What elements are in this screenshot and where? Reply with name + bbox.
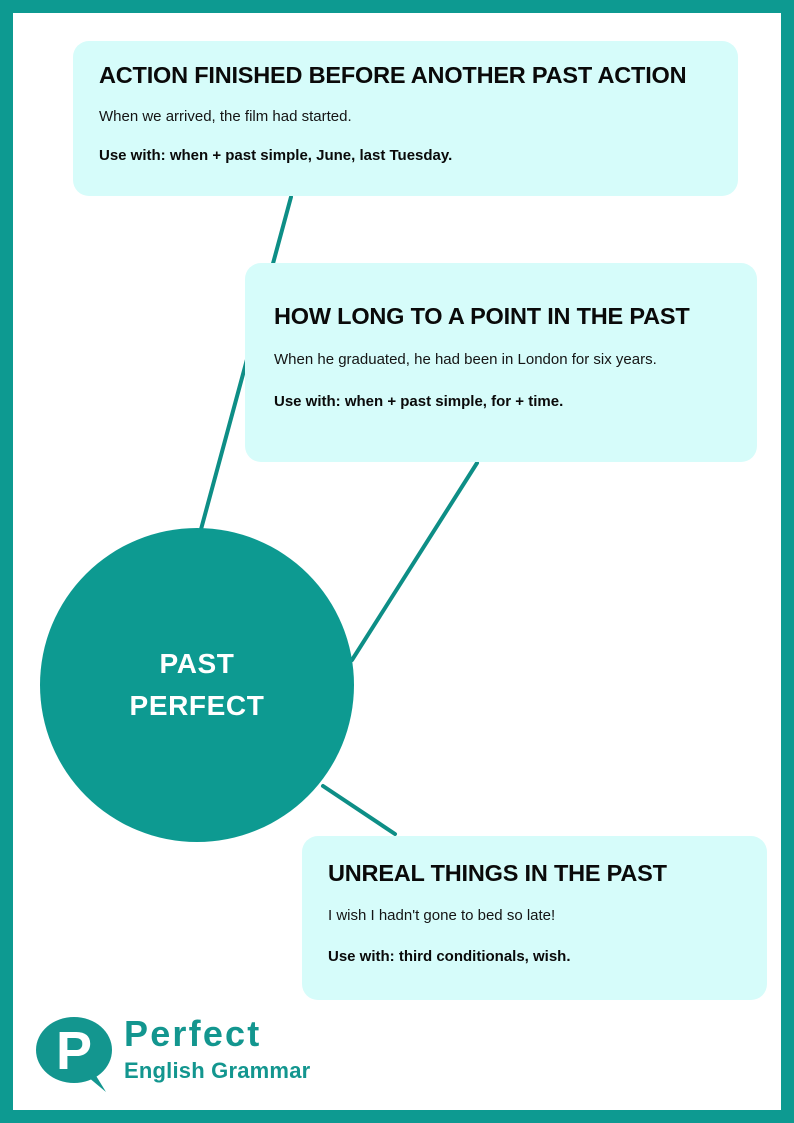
hub-circle-past-perfect: PAST PERFECT	[40, 528, 354, 842]
concept-card-unreal-things: UNREAL THINGS IN THE PAST I wish I hadn'…	[302, 836, 767, 1000]
card-title: ACTION FINISHED BEFORE ANOTHER PAST ACTI…	[99, 63, 712, 89]
hub-title-line-2: PERFECT	[130, 685, 265, 727]
logo-letter-p: P	[56, 1021, 92, 1081]
card-title: UNREAL THINGS IN THE PAST	[328, 861, 741, 887]
card-use-with: Use with: third conditionals, wish.	[328, 948, 741, 965]
concept-card-action-finished: ACTION FINISHED BEFORE ANOTHER PAST ACTI…	[73, 41, 738, 196]
brand-logo: P Perfect English Grammar	[36, 1014, 336, 1094]
card-example-sentence: When he graduated, he had been in London…	[274, 351, 728, 368]
logo-word-english-grammar: English Grammar	[124, 1060, 364, 1082]
poster-frame: ACTION FINISHED BEFORE ANOTHER PAST ACTI…	[0, 0, 794, 1123]
card-title: HOW LONG TO A POINT IN THE PAST	[274, 304, 728, 330]
concept-card-how-long: HOW LONG TO A POINT IN THE PAST When he …	[245, 263, 757, 462]
card-use-with: Use with: when + past simple, June, last…	[99, 147, 712, 164]
hub-title-line-1: PAST	[160, 643, 235, 685]
speech-bubble-p-icon: P	[36, 1014, 122, 1094]
card-example-sentence: When we arrived, the film had started.	[99, 108, 712, 125]
card-use-with: Use with: when + past simple, for + time…	[274, 393, 728, 410]
logo-word-perfect: Perfect	[124, 1016, 364, 1052]
card-example-sentence: I wish I hadn't gone to bed so late!	[328, 907, 741, 924]
logo-wordmark: Perfect English Grammar	[124, 1016, 364, 1082]
